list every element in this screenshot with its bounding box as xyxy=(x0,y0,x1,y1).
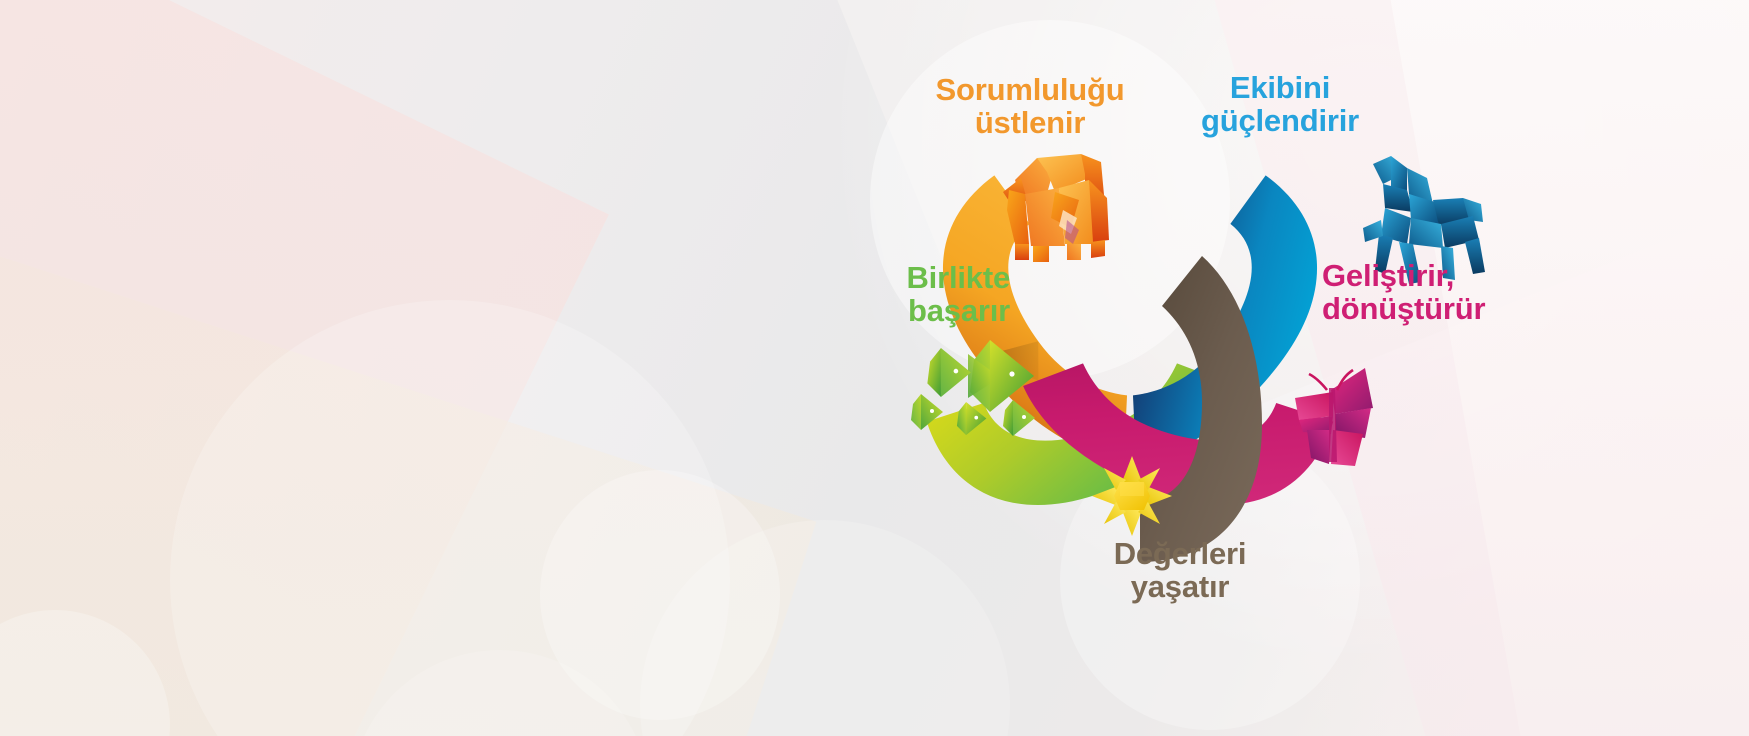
hero-banner: Sorumluluğu üstlenir Ekibini güçlendirir… xyxy=(0,0,1749,736)
value-label-responsibility: Sorumluluğu üstlenir xyxy=(920,74,1140,140)
value-label-values: Değerleri yaşatır xyxy=(1060,538,1300,604)
value-label-team: Ekibini güçlendirir xyxy=(1185,72,1375,138)
value-label-together: Birlikte başarır xyxy=(830,262,1010,328)
origami-elephant-icon xyxy=(1003,154,1109,262)
value-label-develop: Geliştirir, dönüştürür xyxy=(1322,260,1572,326)
origami-sun-icon xyxy=(1092,456,1172,536)
